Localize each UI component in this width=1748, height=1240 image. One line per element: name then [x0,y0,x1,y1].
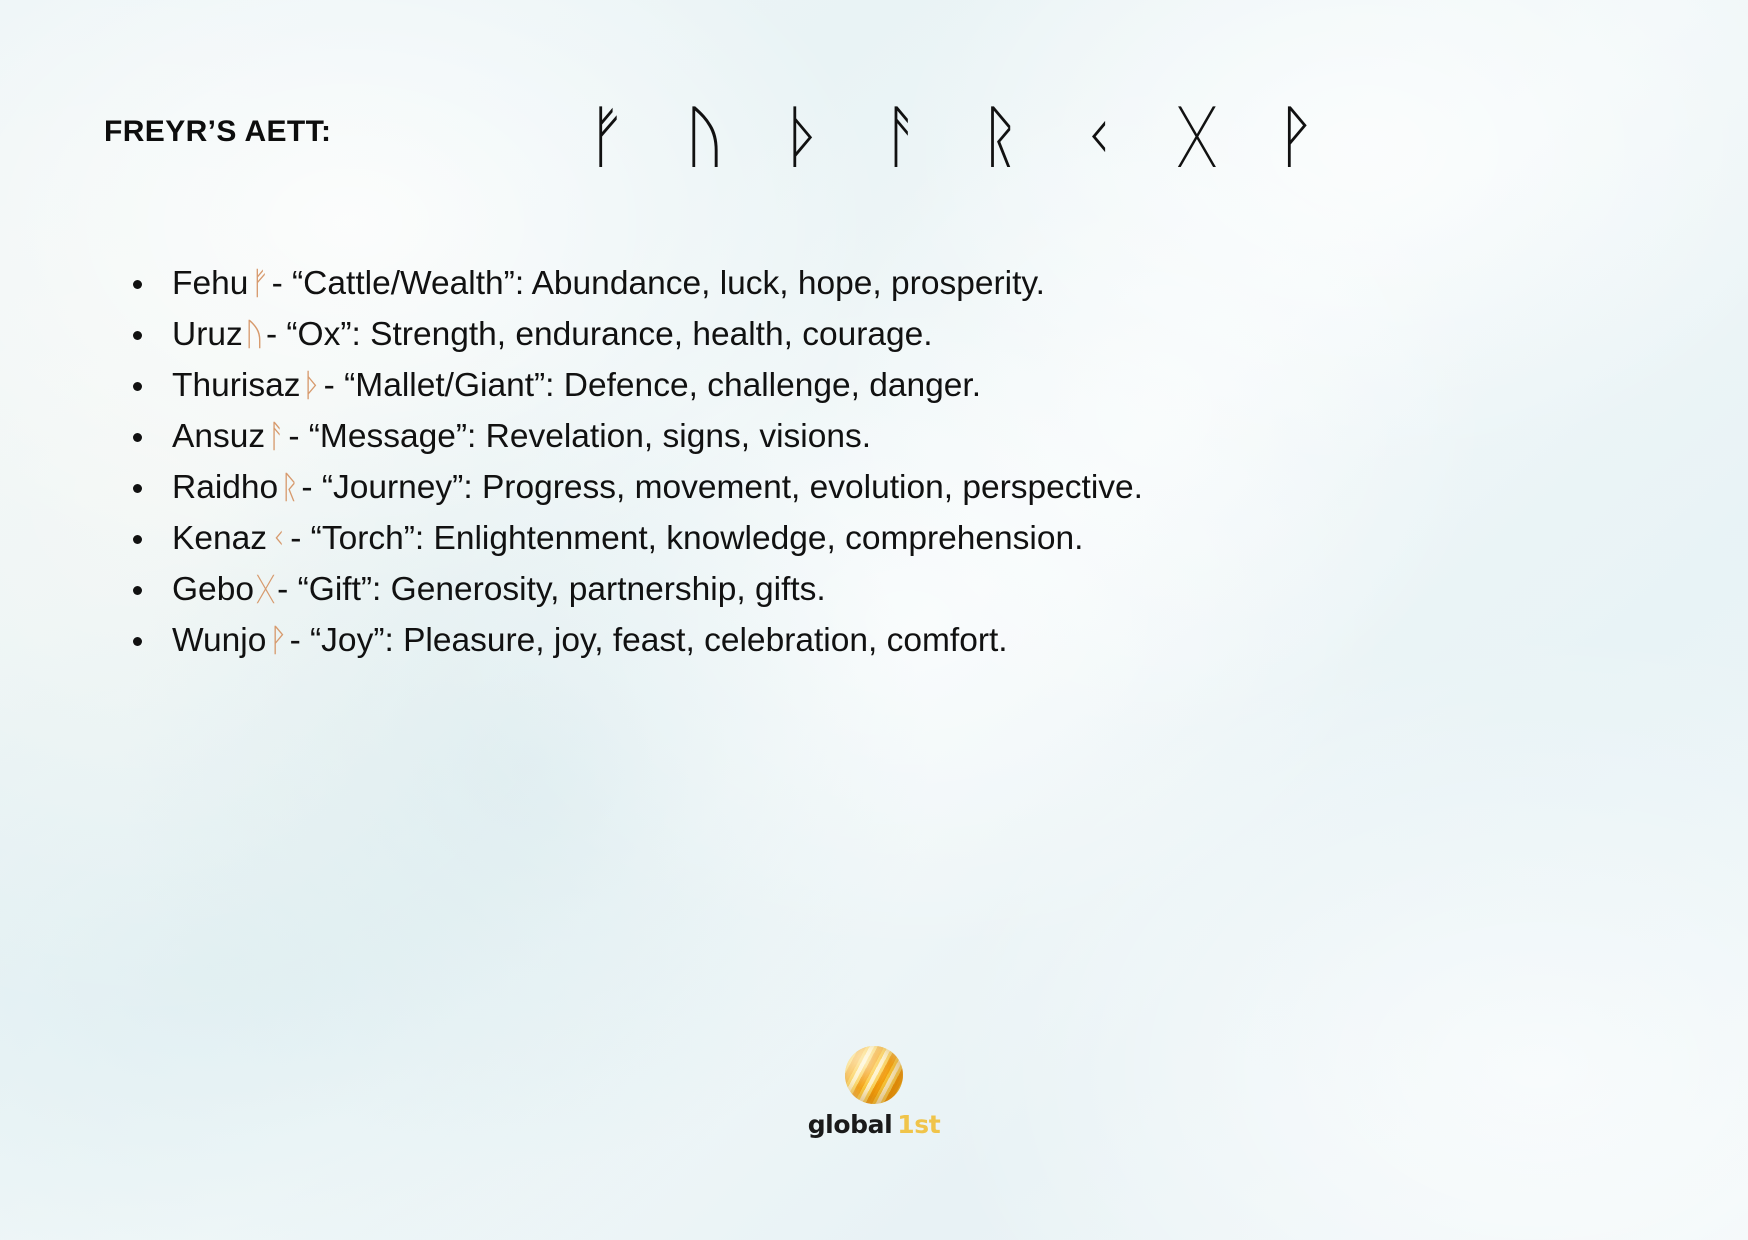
rune-meaning: - “Joy”: Pleasure, joy, feast, celebrati… [290,622,1008,659]
rune-meaning: - “Gift”: Generosity, partnership, gifts… [277,571,826,608]
list-item: Thurisazᚦ- “Mallet/Giant”: Defence, chal… [128,360,1668,411]
rune-meaning: - “Message”: Revelation, signs, visions. [288,418,871,455]
list-item: Fehuᚠ- “Cattle/Wealth”: Abundance, luck,… [128,258,1668,309]
bullet-icon [133,382,142,391]
bullet-icon [133,586,142,595]
rune-name: Raidho [172,469,278,506]
ansuz-rune-icon: ᚨ [265,417,288,455]
brand-word-1st: 1st [892,1110,940,1139]
bullet-icon [133,637,142,646]
uruz-rune-icon: ᚢ [243,315,266,353]
gebo-rune-icon: ᚷ [254,570,277,608]
rune-meaning: - “Cattle/Wealth”: Abundance, luck, hope… [272,265,1045,302]
striped-globe-icon [845,1046,903,1104]
bullet-icon [133,484,142,493]
page-title: FREYR’S AETT: [104,115,331,149]
list-item: Wunjoᚹ- “Joy”: Pleasure, joy, feast, cel… [128,615,1668,666]
rune-list: Fehuᚠ- “Cattle/Wealth”: Abundance, luck,… [128,258,1668,666]
rune-meaning: - “Mallet/Giant”: Defence, challenge, da… [324,367,981,404]
kenaz-rune-icon: ᚲ [267,519,290,557]
rune-name: Fehu [172,265,248,302]
list-item: Ansuzᚨ- “Message”: Revelation, signs, vi… [128,411,1668,462]
bullet-icon [133,535,142,544]
rune-meaning: - “Journey”: Progress, movement, evoluti… [301,469,1143,506]
rune-name: Wunjo [172,622,266,659]
bullet-icon [133,280,142,289]
rune-meaning: - “Ox”: Strength, endurance, health, cou… [266,316,933,353]
list-item: Raidhoᚱ- “Journey”: Progress, movement, … [128,462,1668,513]
brand-word-global: global [808,1110,893,1139]
rune-name: Kenaz [172,520,267,557]
thurisaz-rune-icon: ᚦ [300,366,323,404]
list-item: Uruzᚢ- “Ox”: Strength, endurance, health… [128,309,1668,360]
rune-meaning: - “Torch”: Enlightenment, knowledge, com… [290,520,1083,557]
brand-logo: global1st [754,1046,994,1139]
slide-header: FREYR’S AETT: ᚠ ᚢ ᚦ ᚨ ᚱ ᚲ ᚷ ᚹ [104,108,1644,184]
list-item: Geboᚷ- “Gift”: Generosity, partnership, … [128,564,1668,615]
rune-name: Thurisaz [172,367,300,404]
rune-name: Uruz [172,316,243,353]
list-item: Kenazᚲ- “Torch”: Enlightenment, knowledg… [128,513,1668,564]
slide-canvas: FREYR’S AETT: ᚠ ᚢ ᚦ ᚨ ᚱ ᚲ ᚷ ᚹ Fehuᚠ- “Ca… [0,0,1748,1240]
bullet-icon [133,331,142,340]
fehu-rune-icon: ᚠ [248,264,271,302]
raidho-rune-icon: ᚱ [278,468,301,506]
wunjo-rune-icon: ᚹ [266,621,289,659]
bullet-icon [133,433,142,442]
rune-name: Gebo [172,571,254,608]
header-rune-row: ᚠ ᚢ ᚦ ᚨ ᚱ ᚲ ᚷ ᚹ [586,95,1334,180]
brand-logo-text: global1st [754,1110,994,1139]
rune-name: Ansuz [172,418,265,455]
